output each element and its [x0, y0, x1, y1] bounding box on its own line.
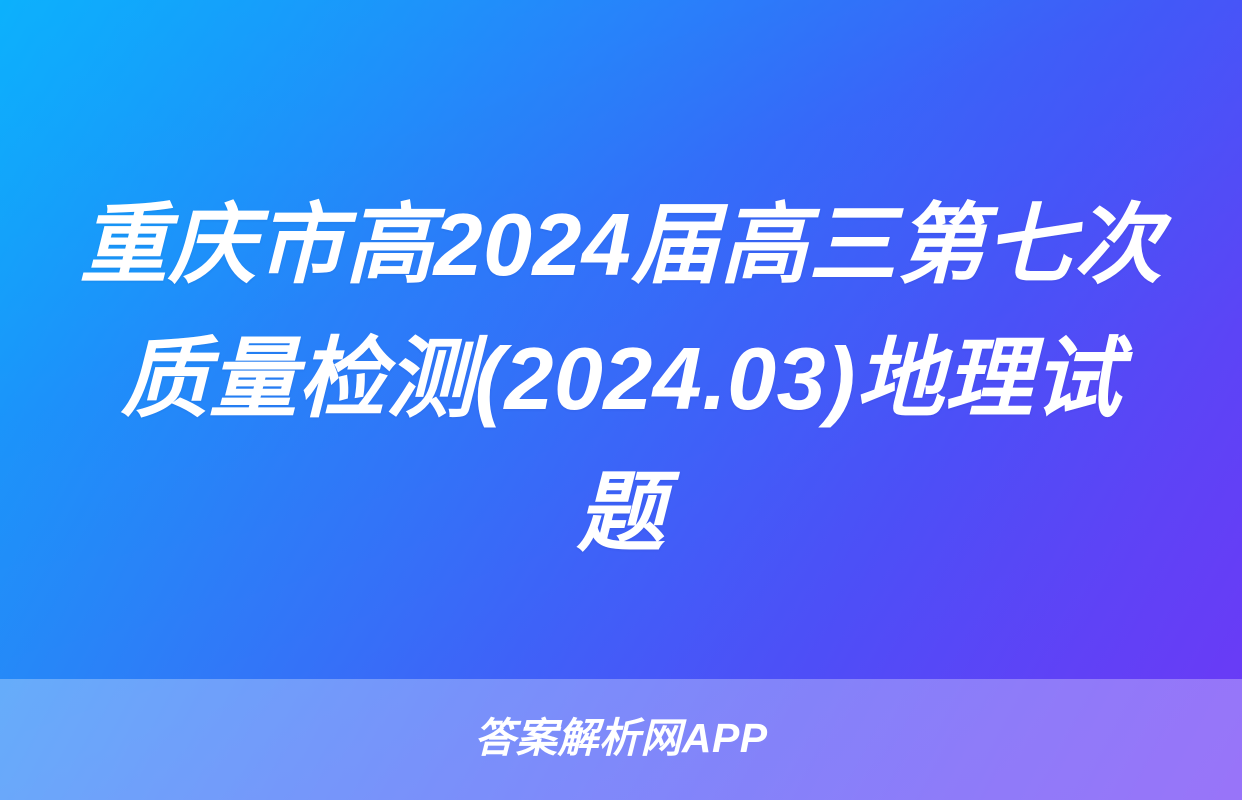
exam-cover-card: 重庆市高2024届高三第七次质量检测(2024.03)地理试题 答案解析网APP — [0, 0, 1242, 800]
exam-title: 重庆市高2024届高三第七次质量检测(2024.03)地理试题 — [78, 178, 1164, 579]
title-area: 重庆市高2024届高三第七次质量检测(2024.03)地理试题 — [0, 178, 1242, 579]
app-watermark-label: 答案解析网APP — [474, 718, 767, 759]
footer-watermark-band: 答案解析网APP — [0, 679, 1242, 800]
